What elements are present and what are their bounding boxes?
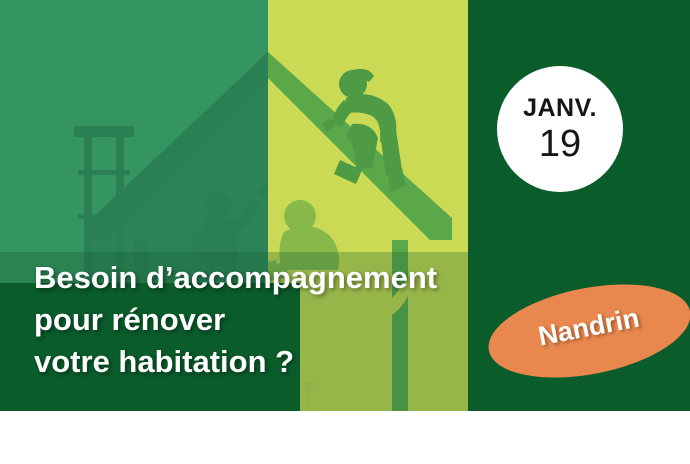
footer-bar: RENOV’ ENERGIE www.renovenergie.be [0,411,690,464]
date-badge: JANV. 19 [497,66,623,192]
poster-artwork: Besoin d’accompagnement pour rénover vot… [0,0,690,411]
headline-line-1: Besoin d’accompagnement [34,257,504,299]
headline-line-3: votre habitation ? [34,341,504,383]
poster: Besoin d’accompagnement pour rénover vot… [0,0,690,464]
headline: Besoin d’accompagnement pour rénover vot… [34,257,504,383]
date-month: JANV. [523,96,597,121]
headline-line-2: pour rénover [34,299,504,341]
date-day: 19 [539,125,581,163]
